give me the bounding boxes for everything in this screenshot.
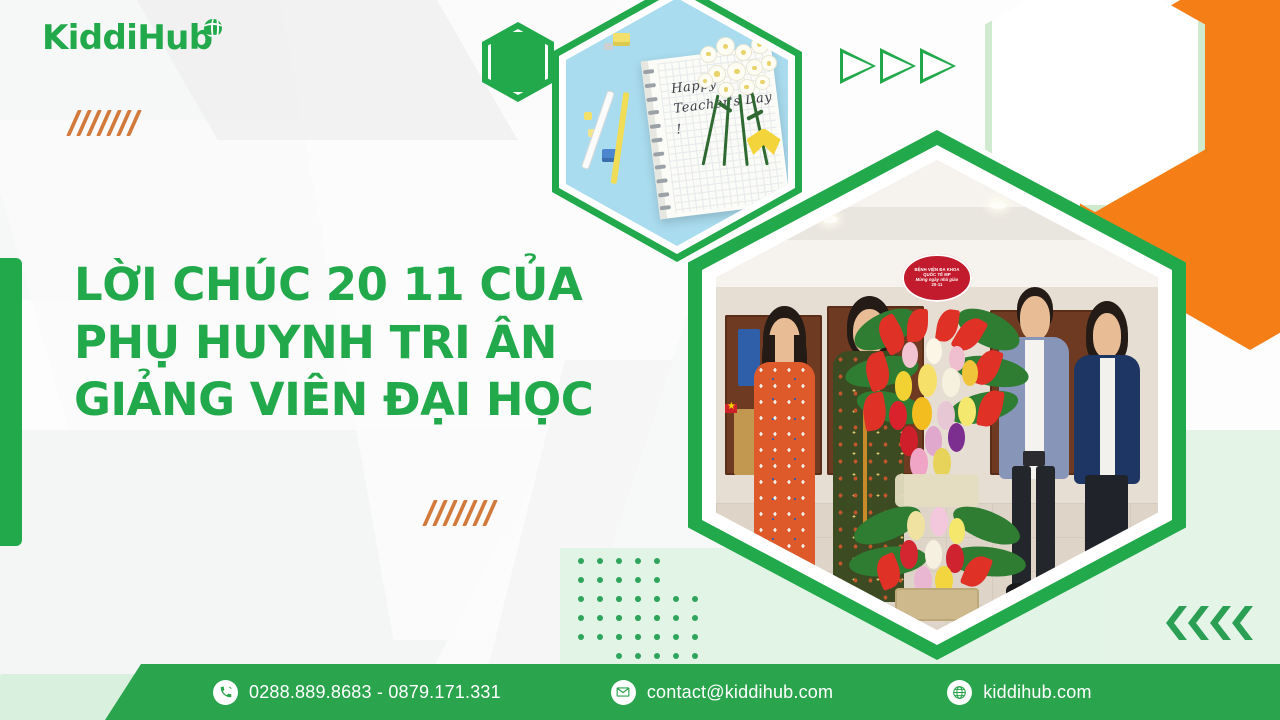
- globe-icon: [204, 19, 222, 37]
- footer-email-text: contact@kiddihub.com: [647, 682, 833, 703]
- grid-dot: [616, 596, 622, 602]
- grid-dot: [654, 653, 660, 659]
- grid-dot: [673, 596, 679, 602]
- grid-dot: [578, 634, 584, 640]
- headline-line-3: GIẢNG VIÊN ĐẠI HỌC: [74, 371, 684, 429]
- binder-clip-metal: [604, 43, 613, 50]
- grid-dot: [673, 615, 679, 621]
- orange-slash-decoration: [72, 110, 136, 136]
- logo-text: KiddiHub: [42, 18, 213, 58]
- ribbon-line-4: 20-11: [931, 282, 942, 287]
- headline-line-2: PHỤ HUYNH TRI ÂN: [74, 314, 684, 372]
- grid-dot: [654, 634, 660, 640]
- globe-icon: [947, 680, 972, 705]
- grid-dot: [578, 615, 584, 621]
- green-hexagon-decoration: [482, 22, 554, 102]
- footer-phone[interactable]: 0288.889.8683 - 0879.171.331: [213, 680, 501, 705]
- grid-dot: [635, 615, 641, 621]
- grid-dot: [597, 577, 603, 583]
- grid-dot: [597, 634, 603, 640]
- grid-dot: [578, 558, 584, 564]
- triangle-icon: [880, 48, 916, 84]
- eraser: [584, 112, 592, 120]
- grid-dot: [673, 653, 679, 659]
- triangle-icon: [840, 48, 876, 84]
- grid-dot: [597, 558, 603, 564]
- footer-email[interactable]: contact@kiddihub.com: [611, 680, 833, 705]
- triangle-icon: [920, 48, 956, 84]
- grid-dot: [616, 634, 622, 640]
- grid-dot: [616, 558, 622, 564]
- phone-icon: [213, 680, 238, 705]
- grid-dot: [635, 577, 641, 583]
- grid-dot: [635, 558, 641, 564]
- footer-phone-text: 0288.889.8683 - 0879.171.331: [249, 682, 501, 703]
- grid-dot: [616, 615, 622, 621]
- footer-website[interactable]: kiddihub.com: [947, 680, 1091, 705]
- headline: LỜI CHÚC 20 11 CỦA PHỤ HUYNH TRI ÂN GIẢN…: [74, 256, 684, 429]
- pencil-yellow: [611, 92, 630, 184]
- flower-basket: BỆNH VIỆN ĐA KHOA QUỐC TẾ MP Mừng ngày n…: [849, 254, 1026, 621]
- kiddihub-logo[interactable]: KiddiHub: [42, 18, 222, 58]
- promotional-banner: KiddiHub LỜI CHÚC 20 11 CỦA PHỤ HUYNH TR…: [0, 0, 1280, 720]
- triangle-arrow-decoration: [840, 48, 956, 84]
- footer-contact-bar: 0288.889.8683 - 0879.171.331 contact@kid…: [105, 664, 1280, 720]
- ribbon-sign: BỆNH VIỆN ĐA KHOA QUỐC TẾ MP Mừng ngày n…: [902, 254, 973, 302]
- grid-dot: [654, 577, 660, 583]
- grid-dot: [654, 615, 660, 621]
- grid-dot: [578, 596, 584, 602]
- grid-dot: [635, 634, 641, 640]
- group-photo-frame: BỆNH VIỆN ĐA KHOA QUỐC TẾ MP Mừng ngày n…: [688, 130, 1186, 660]
- envelope-icon: [611, 680, 636, 705]
- binder-clip-yellow: [613, 33, 630, 46]
- left-accent-bar: [0, 258, 22, 546]
- chevron-left-icon: [1210, 606, 1231, 640]
- grid-dot: [654, 558, 660, 564]
- chevron-left-icon: [1232, 606, 1253, 640]
- grid-dot: [635, 596, 641, 602]
- grid-dot: [616, 577, 622, 583]
- grid-dot: [616, 653, 622, 659]
- footer-website-text: kiddihub.com: [983, 682, 1091, 703]
- grid-dot: [597, 596, 603, 602]
- grid-dot: [673, 634, 679, 640]
- grid-dot: [597, 615, 603, 621]
- grid-dot: [635, 653, 641, 659]
- chevron-left-icon: [1188, 606, 1209, 640]
- grid-dot: [578, 577, 584, 583]
- grid-dot: [654, 596, 660, 602]
- flag: [725, 404, 737, 413]
- headline-line-1: LỜI CHÚC 20 11 CỦA: [74, 256, 684, 314]
- orange-slash-decoration: [428, 500, 492, 526]
